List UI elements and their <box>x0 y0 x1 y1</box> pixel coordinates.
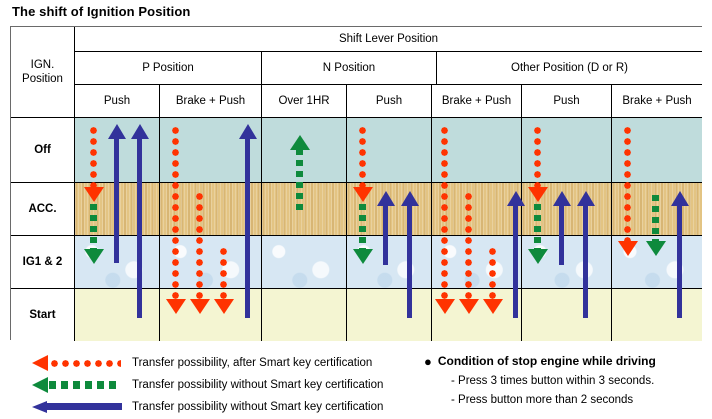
arrow-head-up-blue-col5 <box>507 191 525 206</box>
legend-item-blue: Transfer possibility without Smart key c… <box>32 396 383 418</box>
page-title: The shift of Ignition Position <box>12 4 190 19</box>
arrow-blue-start-to-acc-col4 <box>407 205 412 318</box>
legend-symbol-blue-solid-arrow-icon <box>32 398 122 416</box>
arrow-head-down-red-b-col2 <box>190 299 210 314</box>
cell-ig-p-over1hr <box>262 236 347 289</box>
legend-label-green: Transfer possibility without Smart key c… <box>132 379 383 391</box>
sub-header-n-brake-push: Brake + Push <box>432 85 522 118</box>
arrow-green-acc-to-off-col3 <box>296 149 303 211</box>
sub-header-p-push: Push <box>75 85 160 118</box>
corner-header-line1: IGN. <box>22 58 63 72</box>
legend-label-blue: Transfer possibility without Smart key c… <box>132 401 383 413</box>
arrow-red-ig-to-start-col5 <box>489 246 496 301</box>
legend-symbol-red-dotted-arrow-icon <box>32 354 122 372</box>
legend-label-red: Transfer possibility, after Smart key ce… <box>132 357 372 369</box>
arrow-head-up-blue-ig-col4 <box>377 191 395 206</box>
corner-header-ign-position: IGN. Position <box>11 27 75 118</box>
solid-line-blue-icon <box>46 403 122 410</box>
sub-header-other-brake-push: Brake + Push <box>612 85 702 118</box>
cell-start-other-brake <box>612 289 702 341</box>
arrow-head-down-red-col7 <box>618 241 638 256</box>
arrow-blue-start-to-off-col1 <box>137 138 142 318</box>
arrow-red-off-to-start-col5 <box>441 125 448 301</box>
legend-item-red: Transfer possibility, after Smart key ce… <box>32 352 372 374</box>
sub-header-p-brake-push: Brake + Push <box>160 85 262 118</box>
arrow-red-off-to-acc-col6 <box>534 125 541 189</box>
arrow-green-acc-to-ig-col6 <box>534 204 541 251</box>
notes-line-2: - Press button more than 2 seconds <box>451 394 656 406</box>
cell-start-p-over1hr <box>262 289 347 341</box>
arrow-head-down-red-c-col2 <box>214 299 234 314</box>
cell-start-other-push <box>522 289 612 341</box>
arrow-red-off-to-ig-col7 <box>624 125 631 243</box>
sub-header-other-push: Push <box>522 85 612 118</box>
arrow-head-up-blue-start-col6 <box>577 191 595 206</box>
arrow-red-off-to-start-col2 <box>172 125 179 301</box>
arrow-head-up-blue-start-col4 <box>401 191 419 206</box>
arrow-head-left-green-icon <box>32 377 48 393</box>
row-label-off: Off <box>11 118 75 183</box>
arrow-head-down-red-col4 <box>353 187 373 202</box>
row-label-acc: ACC. <box>11 183 75 236</box>
cell-acc-p-over1hr <box>262 183 347 236</box>
arrow-head-down-red-c-col5 <box>483 299 503 314</box>
group-header-n-position: N Position <box>262 52 437 85</box>
arrow-blue-start-to-off-col2 <box>245 138 250 318</box>
arrow-blue-ig-to-off-col1 <box>114 138 119 263</box>
arrow-head-up-blue-ig-col1 <box>108 124 126 139</box>
arrow-head-down-red-b-col5 <box>459 299 479 314</box>
row-label-ig1-2: IG1 & 2 <box>11 236 75 289</box>
arrow-blue-start-to-acc-col7 <box>677 205 682 318</box>
cell-start-n-push <box>347 289 432 341</box>
arrow-head-down-red-a-col2 <box>166 299 186 314</box>
arrow-head-down-green-col7 <box>646 241 666 256</box>
header-shift-lever-position: Shift Lever Position <box>75 27 702 52</box>
arrow-head-down-red-col1 <box>84 187 104 202</box>
arrow-head-down-green-col6 <box>528 249 548 264</box>
row-label-start: Start <box>11 289 75 341</box>
legend-symbol-green-dashed-arrow-icon <box>32 376 122 394</box>
bullet-icon: ● <box>424 355 432 368</box>
group-header-other-position: Other Position (D or R) <box>437 52 702 85</box>
legend-item-green: Transfer possibility without Smart key c… <box>32 374 383 396</box>
arrow-head-up-blue-ig-col6 <box>553 191 571 206</box>
arrow-head-left-blue-icon <box>32 401 47 413</box>
notes-block: ● Condition of stop engine while driving… <box>424 354 656 406</box>
arrow-head-down-green-col1 <box>84 249 104 264</box>
arrow-blue-start-to-acc-col6 <box>583 205 588 318</box>
notes-heading: Condition of stop engine while driving <box>438 354 656 368</box>
arrow-red-ig-to-start-col2 <box>220 246 227 301</box>
arrow-blue-start-to-acc-col5 <box>513 205 518 318</box>
arrow-green-acc-to-ig-col4 <box>359 204 366 251</box>
arrow-head-left-red-icon <box>32 355 48 371</box>
arrow-head-down-green-col4 <box>353 249 373 264</box>
arrow-head-down-red-a-col5 <box>435 299 455 314</box>
arrow-red-acc-to-start-col5 <box>465 191 472 301</box>
notes-line-1: - Press 3 times button within 3 seconds. <box>451 375 656 387</box>
arrow-red-dotted-off-to-acc-col1 <box>90 125 97 189</box>
arrow-red-acc-to-start-col2 <box>196 191 203 301</box>
arrow-head-up-blue-col2 <box>239 124 257 139</box>
dashed-line-green-icon <box>49 381 121 389</box>
arrow-head-up-blue-start-col1 <box>131 124 149 139</box>
notes-heading-row: ● Condition of stop engine while driving <box>424 354 656 368</box>
group-header-p-position: P Position <box>75 52 262 85</box>
arrow-green-dashed-acc-to-ig-col1 <box>90 204 97 251</box>
arrow-blue-ig-to-acc-col6 <box>559 205 564 265</box>
sub-header-n-push: Push <box>347 85 432 118</box>
cell-start-p-push <box>75 289 160 341</box>
arrow-head-down-red-col6 <box>528 187 548 202</box>
arrow-head-up-green-col3 <box>290 135 310 150</box>
dotted-line-red-icon <box>49 360 121 367</box>
arrow-head-up-blue-col7 <box>671 191 689 206</box>
arrow-green-acc-to-ig-col7 <box>652 195 659 243</box>
cell-off-p-over1hr <box>262 118 347 183</box>
ignition-position-table: IGN. Position Shift Lever Position P Pos… <box>10 26 702 340</box>
sub-header-p-over-1hr: Over 1HR <box>262 85 347 118</box>
arrow-blue-ig-to-acc-col4 <box>383 205 388 265</box>
arrow-red-off-to-acc-col4 <box>359 125 366 189</box>
corner-header-line2: Position <box>22 72 63 86</box>
